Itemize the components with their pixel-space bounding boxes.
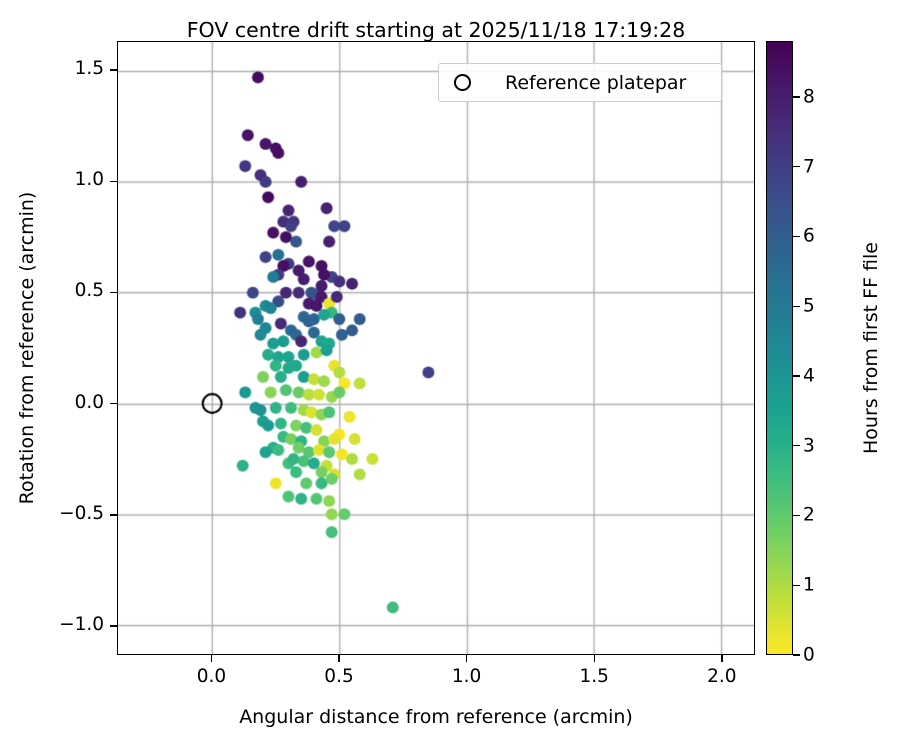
colorbar-tick-label: 6 bbox=[803, 226, 815, 247]
colorbar-tickmark bbox=[793, 585, 800, 586]
colorbar-tick-label: 7 bbox=[803, 156, 815, 177]
colorbar-tickmark bbox=[793, 445, 800, 446]
colorbar-tickmark bbox=[793, 166, 800, 167]
legend-item-label: Reference platepar bbox=[505, 72, 686, 94]
x-tickmark bbox=[211, 655, 212, 662]
y-axis-label: Rotation from reference (arcmin) bbox=[16, 41, 38, 655]
x-tick-label: 1.5 bbox=[580, 666, 609, 687]
colorbar-tickmark bbox=[793, 654, 800, 655]
scatter-plot-axes bbox=[117, 41, 755, 655]
scatter-plot-canvas bbox=[118, 42, 754, 654]
colorbar-tick-label: 4 bbox=[803, 365, 815, 386]
x-tick-label: 1.0 bbox=[452, 666, 481, 687]
x-tick-label: 2.0 bbox=[707, 666, 736, 687]
colorbar-tick-label: 5 bbox=[803, 296, 815, 317]
y-tickmark bbox=[110, 625, 117, 626]
colorbar-tickmark bbox=[793, 306, 800, 307]
colorbar-tick-label: 1 bbox=[803, 575, 815, 596]
page-title: FOV centre drift starting at 2025/11/18 … bbox=[117, 18, 755, 42]
colorbar-label: Hours from first FF file bbox=[860, 41, 882, 655]
colorbar-tick-label: 3 bbox=[803, 435, 815, 456]
colorbar-tickmark bbox=[793, 236, 800, 237]
colorbar-tickmark bbox=[793, 375, 800, 376]
y-tickmark bbox=[110, 514, 117, 515]
x-tickmark bbox=[594, 655, 595, 662]
x-tickmark bbox=[338, 655, 339, 662]
colorbar-tick-label: 0 bbox=[803, 645, 815, 666]
colorbar bbox=[766, 41, 793, 655]
x-axis-label: Angular distance from reference (arcmin) bbox=[117, 706, 755, 728]
y-tickmark bbox=[110, 403, 117, 404]
figure-root: FOV centre drift starting at 2025/11/18 … bbox=[0, 0, 900, 750]
y-tickmark bbox=[110, 181, 117, 182]
legend: Reference platepar bbox=[438, 63, 722, 102]
colorbar-tick-label: 8 bbox=[803, 86, 815, 107]
legend-marker-open-circle-icon bbox=[447, 63, 477, 102]
x-tickmark bbox=[721, 655, 722, 662]
colorbar-tick-label: 2 bbox=[803, 505, 815, 526]
colorbar-tickmark bbox=[793, 96, 800, 97]
y-tickmark bbox=[110, 69, 117, 70]
colorbar-gradient bbox=[767, 42, 792, 654]
y-tickmark bbox=[110, 292, 117, 293]
colorbar-tickmark bbox=[793, 515, 800, 516]
x-tick-label: 0.5 bbox=[324, 666, 353, 687]
x-tickmark bbox=[466, 655, 467, 662]
x-tick-label: 0.0 bbox=[197, 666, 226, 687]
